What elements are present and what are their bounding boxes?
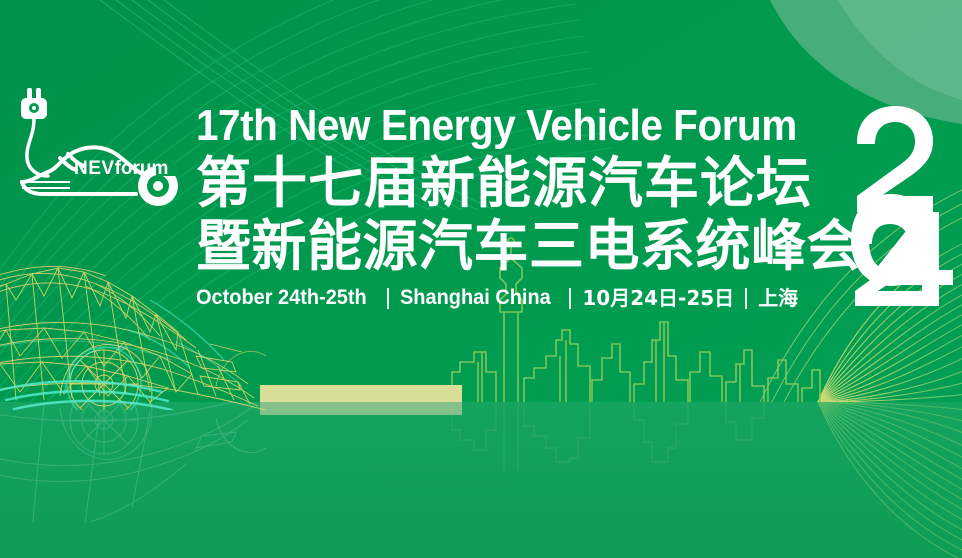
- year-label: 2024: [0, 0, 1, 1]
- logo-wordmark: NEVforum: [74, 158, 168, 180]
- event-meta-line: October 24th-25th Shanghai China 10月24日-…: [196, 285, 836, 311]
- logo-brand-light: forum: [115, 158, 169, 179]
- meta-date-chinese: 10月24日-25日: [582, 285, 734, 311]
- title-english: 17th New Energy Vehicle Forum: [196, 100, 785, 152]
- year-mark: [845, 100, 957, 312]
- title-chinese-line-1: 第十七届新能源汽车论坛: [196, 152, 836, 215]
- meta-separator-1: [387, 288, 389, 309]
- meta-location-chinese: 上海: [758, 285, 798, 311]
- meta-location-english: Shanghai China: [400, 285, 551, 311]
- meta-date-english: October 24th-25th: [196, 285, 367, 311]
- year-artwork: [845, 100, 957, 312]
- logo-brand-bold: NEV: [74, 158, 115, 179]
- logo-rule: [22, 182, 70, 188]
- nevforum-logo: NEVforum: [8, 78, 186, 210]
- meta-separator-2: [569, 288, 571, 309]
- conference-banner: NEVforum 17th New Energy Vehicle Forum 第…: [0, 0, 962, 558]
- title-chinese-line-2: 暨新能源汽车三电系统峰会: [196, 215, 836, 278]
- meta-separator-3: [745, 288, 747, 309]
- logo-artwork: [8, 78, 186, 210]
- headline-block: 17th New Energy Vehicle Forum 第十七届新能源汽车论…: [196, 100, 836, 311]
- charging-plug-icon: [21, 88, 48, 176]
